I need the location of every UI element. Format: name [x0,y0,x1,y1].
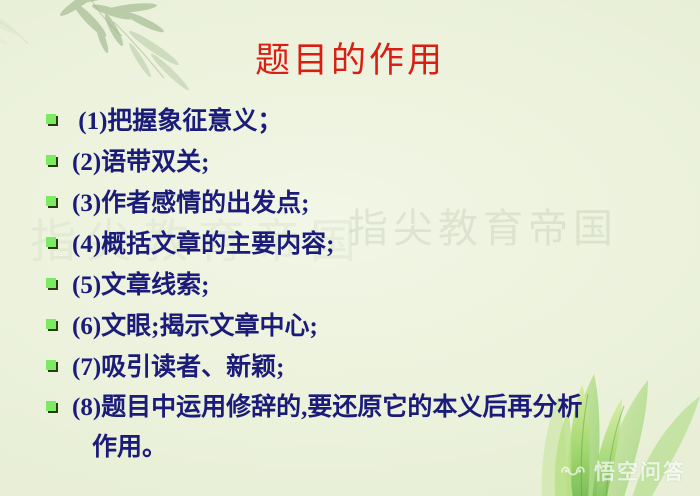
list-item: (3)作者感情的出发点; [40,183,680,224]
list-item-label: (5)文章线索; [72,265,209,306]
list-item: (8)题目中运用修辞的,要还原它的本义后再分析作用。 [40,388,680,468]
list-item-label-line1: (8)题目中运用修辞的,要还原它的本义后再分析 [72,394,582,421]
presentation-slide: 指尖教育帝国 指尖教育帝国 [0,0,700,496]
bullet-square-icon [46,196,56,206]
list-item-label: (2)语带双关; [72,142,209,183]
list-item-label: (1)把握象征意义； [72,101,282,142]
list-item-label: (3)作者感情的出发点; [72,183,309,224]
list-item: (4)概括文章的主要内容; [40,224,680,265]
bullet-list: (1)把握象征意义； (2)语带双关; (3)作者感情的出发点; (4)概括文章… [40,101,680,468]
list-item-label: (7)吸引读者、新颖; [72,347,284,388]
list-item: (1)把握象征意义； [40,101,680,142]
bullet-square-icon [46,155,56,165]
list-item-label-line2: 作用。 [72,428,582,468]
list-item: (7)吸引读者、新颖; [40,347,680,388]
list-item: (5)文章线索; [40,265,680,306]
list-item: (6)文眼;揭示文章中心; [40,306,680,347]
list-item-label: (6)文眼;揭示文章中心; [72,306,318,347]
bullet-square-icon [46,360,56,370]
page-title: 题目的作用 [0,40,700,82]
list-item: (2)语带双关; [40,142,680,183]
list-item-label: (8)题目中运用修辞的,要还原它的本义后再分析作用。 [72,388,582,468]
bullet-square-icon [46,401,56,411]
bullet-square-icon [46,237,56,247]
bullet-square-icon [46,278,56,288]
bullet-square-icon [46,114,56,124]
list-item-label: (4)概括文章的主要内容; [72,224,334,265]
bullet-square-icon [46,319,56,329]
